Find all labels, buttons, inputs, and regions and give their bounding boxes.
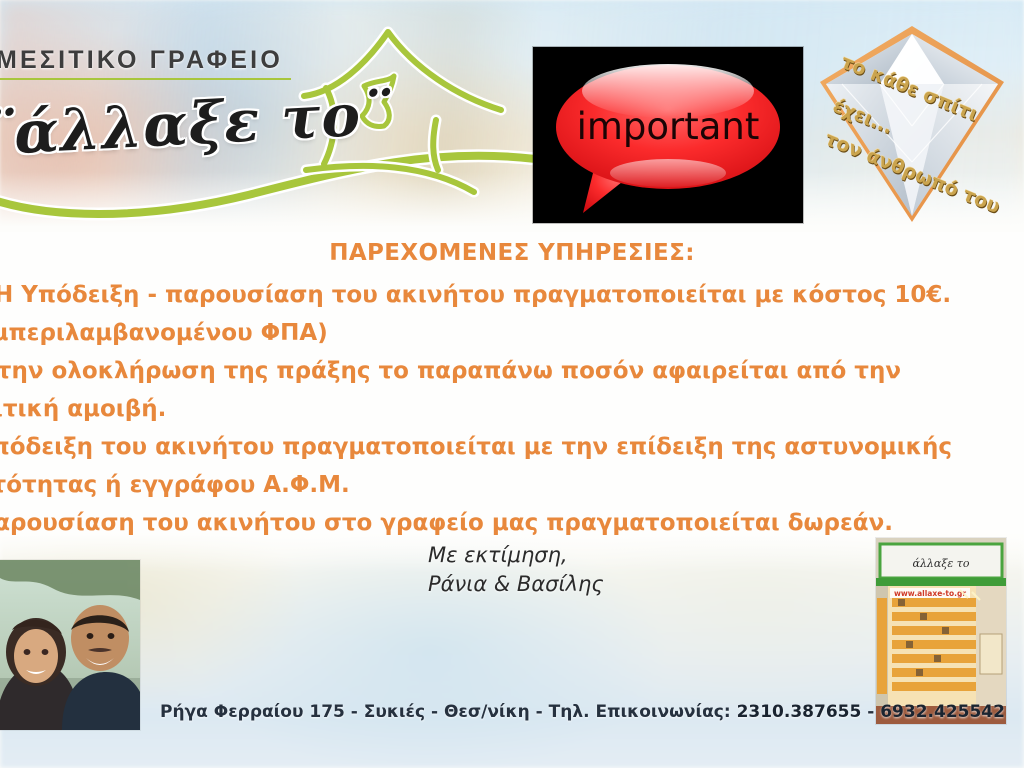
services-line: Η Υπόδειξη - παρουσίαση του ακινήτου πρα… bbox=[0, 276, 1024, 314]
brand-tagline: ΜΕΣΙΤΙΚΟ ΓΡΑΦΕΙΟ bbox=[0, 46, 291, 80]
flyer-page: ΜΕΣΙΤΙΚΟ ΓΡΑΦΕΙΟ ¨άλλαξε το¨ bbox=[0, 0, 1024, 768]
footer-phone-2: 6932.425542 bbox=[880, 702, 1005, 722]
storefront-photo: άλλαξε το www.allaxe-to.gr bbox=[876, 538, 1006, 724]
storefront-sign-text: άλλαξε το bbox=[913, 557, 970, 570]
footer-address: Ρήγα Φερραίου 175 - Συκιές - Θεσ/νίκη - … bbox=[160, 702, 737, 722]
signature-line-2: Ράνια & Βασίλης bbox=[428, 570, 604, 599]
footer-phone-separator: - bbox=[861, 702, 880, 722]
storefront-url-text: www.allaxe-to.gr bbox=[894, 589, 966, 598]
speech-bubble-icon: important bbox=[533, 47, 803, 223]
diamond-icon bbox=[812, 22, 1012, 227]
footer-phone-1: 2310.387655 bbox=[737, 702, 862, 722]
brand-wordmark: ΜΕΣΙΤΙΚΟ ΓΡΑΦΕΙΟ ¨άλλαξε το¨ bbox=[0, 46, 391, 158]
important-label: important bbox=[577, 105, 760, 148]
services-lines: Η Υπόδειξη - παρουσίαση του ακινήτου πρα… bbox=[0, 276, 1024, 542]
footer-contact: Ρήγα Φερραίου 175 - Συκιές - Θεσ/νίκη - … bbox=[160, 702, 1005, 722]
brand-name: ¨άλλαξε το¨ bbox=[0, 79, 393, 168]
services-line: υπόδειξη του ακινήτου πραγματοποιείται μ… bbox=[0, 428, 1024, 466]
signature-line-1: Με εκτίμηση, bbox=[428, 541, 604, 570]
couple-photo bbox=[0, 560, 140, 730]
services-heading: ΠΑΡΕΧΟΜΕΝΕΣ ΥΠΗΡΕΣΙΕΣ: bbox=[0, 240, 1024, 266]
services-line: παρουσίαση του ακινήτου στο γραφείο μας … bbox=[0, 504, 1024, 542]
services-line: ε την ολοκλήρωση της πράξης το παραπάνω … bbox=[0, 352, 1024, 390]
signature-block: Με εκτίμηση, Ράνια & Βασίλης bbox=[428, 541, 604, 599]
services-line: υμπεριλαμβανομένου ΦΠΑ) bbox=[0, 314, 1024, 352]
services-section: ΠΑΡΕΧΟΜΕΝΕΣ ΥΠΗΡΕΣΙΕΣ: Η Υπόδειξη - παρο… bbox=[0, 232, 1024, 532]
important-badge: important important bbox=[533, 47, 803, 223]
services-line: υτότητας ή εγγράφου Α.Φ.Μ. bbox=[0, 466, 1024, 504]
services-line: σιτική αμοιβή. bbox=[0, 390, 1024, 428]
